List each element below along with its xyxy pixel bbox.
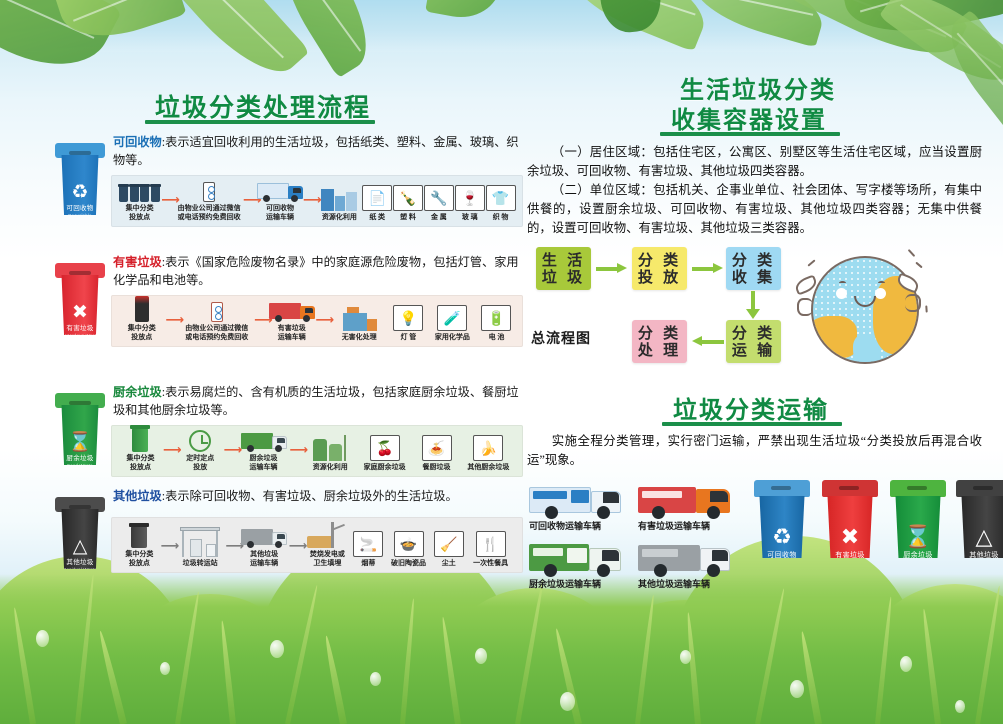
flow-step-caption: 集中分类 投放点 <box>126 204 154 222</box>
paper-icon-box: 📄 <box>362 179 392 211</box>
vehicle-recyclable: 可回收物运输车辆 <box>529 483 621 519</box>
broken-ceramic-icon-box: 🍲 <box>394 525 424 557</box>
item-icon-group: 🍾 塑 料 <box>393 179 424 222</box>
category-name: 有害垃圾 <box>113 255 162 269</box>
big-bin-recyclable: ♻ 可回收物 Recyclable <box>756 480 808 558</box>
flow-arrow-icon: ⟶ <box>316 313 330 326</box>
bin-recyclable: ♻ 可回收物 Recyclable <box>55 139 107 217</box>
flow-step-caption: 垃圾转运站 <box>183 559 218 568</box>
flowchart-arrow-2 <box>692 263 724 274</box>
category-description-text: :表示《国家危险废物名录》中的家庭源危险废物，包括灯管、家用化学品和电池等。 <box>113 255 519 287</box>
flow-panel-hazardous: 集中分类 投放点 ⟶ 由物业公司通过微信 或电话预约免费回收 ⟶ 有害垃圾 运输… <box>111 295 523 347</box>
phone-booking-icon <box>203 170 215 202</box>
transport-title: 垃圾分类运输 <box>673 390 829 425</box>
bin-label-en: Residual Waste <box>959 561 1003 566</box>
bin-label-en: Residual Waste <box>59 567 101 572</box>
flow-step-caption: 集中分类 投放点 <box>125 550 153 568</box>
residual-waste-icon: △ <box>959 526 1003 548</box>
earth-mascot-icon <box>811 256 919 364</box>
item-label: 纸 类 <box>369 213 385 222</box>
category-description-text: :表示易腐烂的、含有机质的生活垃圾，包括家庭厨余垃圾、餐厨垃圾和其他厨余垃圾等。 <box>113 385 519 417</box>
item-label: 破旧陶瓷品 <box>391 559 426 568</box>
truck-green-icon <box>241 420 287 452</box>
banana-peel-icon: 🍌 <box>473 435 503 461</box>
bin-food-waste: ⌛ 厨余垃圾 Food Waste <box>55 389 107 467</box>
category-description: 有害垃圾:表示《国家危险废物名录》中的家庭源危险废物，包括灯管、家用化学品和电池… <box>113 253 521 289</box>
bin-residual: △ 其他垃圾 Residual Waste <box>55 493 107 571</box>
item-icon-group: 🔧 金 属 <box>423 179 454 222</box>
metal-can-icon-box: 🔧 <box>424 179 454 211</box>
item-label: 尘土 <box>442 559 456 568</box>
bin-label-en: Recyclable <box>757 561 807 566</box>
metal-can-icon: 🔧 <box>424 185 454 211</box>
item-icon-group: 🧪 家用化学品 <box>428 299 477 342</box>
flow-step: 由物业公司通过微信 或电话预约免费回收 <box>175 170 243 222</box>
recycle-triangle-icon: ♻ <box>59 183 101 202</box>
flow-panel-recyclable: 集中分类 投放点 ⟶ 由物业公司通过微信 或电话预约免费回收 ⟶ 可回收物 运输… <box>111 175 523 227</box>
earth-eyebrow-right <box>878 281 885 285</box>
vegetable-icon-box: 🍒 <box>370 429 400 461</box>
node-line-1: 分 类 <box>732 325 775 342</box>
earth-arm-right <box>905 294 921 312</box>
factory-blue-icon <box>319 179 359 211</box>
flow-step-caption: 集中分类 投放点 <box>126 454 154 472</box>
tanks-green-icon <box>310 429 350 461</box>
bottle-icon: 🍾 <box>393 185 423 211</box>
hazard-x-icon: ✖ <box>825 526 875 548</box>
bin-body: ♻ 可回收物 Recyclable <box>59 155 101 215</box>
food-waste-icon: ⌛ <box>893 526 943 548</box>
cigarette-butt-icon: 🚬 <box>353 531 383 557</box>
bin-label-cn: 其他垃圾 <box>959 552 1003 560</box>
flow-arrow-icon: ⟶ <box>161 539 175 552</box>
bin-body: ✖ 有害垃圾 Hazardous Waste <box>59 275 101 335</box>
flowchart-arrow-3 <box>746 291 762 319</box>
cigarette-butt-icon-box: 🚬 <box>353 525 383 557</box>
bin-slot <box>839 486 859 490</box>
category-description-text: :表示除可回收物、有害垃圾、厨余垃圾外的生活垃圾。 <box>162 489 458 503</box>
bin-label-cn: 有害垃圾 <box>59 325 101 332</box>
vehicle-label: 可回收物运输车辆 <box>529 521 601 532</box>
vehicle-food-waste: 厨余垃圾运输车辆 <box>529 541 621 577</box>
flowchart-node-household-waste: 生 活 垃 圾 <box>536 247 591 290</box>
flowchart-arrow-1 <box>596 263 628 274</box>
chemical-bottle-icon-box: 🧪 <box>437 299 467 331</box>
flow-step-caption: 资源化利用 <box>322 213 357 222</box>
bin-slot <box>69 271 91 275</box>
flow-step: 其他垃圾 运输车辆 <box>240 516 289 568</box>
node-line-2: 收 集 <box>732 269 775 286</box>
containers-title-rule <box>660 132 840 136</box>
flowchart-node-sorted-treatment: 分 类 处 理 <box>632 320 687 363</box>
bin-slot <box>907 486 927 490</box>
flow-arrow-icon: ⟶ <box>289 443 303 456</box>
bin-label-en: Food Waste <box>893 561 943 566</box>
item-icon-group: 🔋 电 池 <box>477 299 516 342</box>
item-label: 其他厨余垃圾 <box>467 463 509 472</box>
item-label: 灯 管 <box>400 333 416 342</box>
food-waste-icon: ⌛ <box>59 433 101 452</box>
node-line-1: 分 类 <box>732 252 775 269</box>
item-label: 一次性餐具 <box>473 559 508 568</box>
truck-red-icon <box>269 290 315 322</box>
bin-label-en: Hazardous Waste <box>825 561 875 566</box>
bin-body: △ 其他垃圾 Residual Waste <box>59 509 101 569</box>
item-label: 家庭厨余垃圾 <box>364 463 406 472</box>
item-label: 餐厨垃圾 <box>423 463 451 472</box>
bin-label-cn: 有害垃圾 <box>825 552 875 560</box>
flow-step-caption: 资源化利用 <box>313 463 348 472</box>
flow-arrow-icon: ⟶ <box>254 313 268 326</box>
item-label: 家用化学品 <box>435 333 470 342</box>
recycle-triangle-icon: ♻ <box>757 526 807 548</box>
big-bin-residual: △ 其他垃圾 Residual Waste <box>958 480 1003 558</box>
category-name: 厨余垃圾 <box>113 385 162 399</box>
flow-step: 资源化利用 <box>303 429 357 472</box>
truck-grey-icon <box>241 516 287 548</box>
bin-slot <box>69 505 91 509</box>
flow-step-caption: 由物业公司通过微信 或电话预约免费回收 <box>185 324 248 342</box>
flow-step-caption: 厨余垃圾 运输车辆 <box>250 454 278 472</box>
bin-body: ⌛ 厨余垃圾 Food Waste <box>893 496 943 558</box>
bowl-food-icon: 🍝 <box>422 435 452 461</box>
bin-slot <box>771 486 791 490</box>
flow-step: 厨余垃圾 运输车辆 <box>238 420 290 472</box>
flow-step: 集中分类 投放点 <box>118 290 165 342</box>
battery-icon-box: 🔋 <box>481 299 511 331</box>
vehicle-label: 厨余垃圾运输车辆 <box>529 579 601 590</box>
category-description: 可回收物:表示适宜回收利用的生活垃圾，包括纸类、塑料、金属、玻璃、织物等。 <box>113 133 521 169</box>
flow-panel-residual: 集中分类 投放点 ⟶ 垃圾转运站 ⟶ <box>111 517 523 573</box>
tshirt-icon: 👕 <box>486 185 516 211</box>
flow-step-caption: 可回收物 运输车辆 <box>266 204 294 222</box>
bin-lid <box>956 480 1003 497</box>
node-line-1: 分 类 <box>638 252 681 269</box>
lamp-tube-icon-box: 💡 <box>393 299 423 331</box>
paper-icon: 📄 <box>362 185 392 211</box>
banana-peel-icon-box: 🍌 <box>473 429 503 461</box>
factory-orange-icon <box>339 299 379 331</box>
transport-title-rule <box>662 422 842 426</box>
flowchart-label: 总流程图 <box>531 328 591 348</box>
flow-step: 垃圾转运站 <box>175 525 226 568</box>
bin-label-en: Food Waste <box>59 463 101 468</box>
flow-step: 无害化处理 <box>330 299 389 342</box>
flow-step: 有害垃圾 运输车辆 <box>268 290 315 342</box>
node-line-2: 垃 圾 <box>542 269 585 286</box>
transport-paragraph: 实施全程分类管理，实行密门运输，严禁出现生活垃圾“分类投放后再混合收运”现象。 <box>527 432 982 470</box>
bottle-icon-box: 🍾 <box>393 179 423 211</box>
flow-step-caption: 定时定点 投放 <box>186 454 214 472</box>
bin-body: △ 其他垃圾 Residual Waste <box>959 496 1003 558</box>
left-section-title: 垃圾分类处理流程 <box>155 88 371 124</box>
tshirt-icon-box: 👕 <box>486 179 516 211</box>
flowchart-node-sorted-transport: 分 类 运 输 <box>726 320 781 363</box>
node-line-2: 投 放 <box>638 269 681 286</box>
bin-hazardous: ✖ 有害垃圾 Hazardous Waste <box>55 259 107 337</box>
earth-eye-left <box>836 288 847 299</box>
bin-body: ✖ 有害垃圾 Hazardous Waste <box>825 496 875 558</box>
item-icon-group: 📄 纸 类 <box>362 179 393 222</box>
item-icon-group: 💡 灯 管 <box>389 299 428 342</box>
vegetable-icon: 🍒 <box>370 435 400 461</box>
earth-arm-left <box>797 298 813 316</box>
flow-step-caption: 其他垃圾 运输车辆 <box>250 550 278 568</box>
earth-eye-right <box>875 288 886 299</box>
bin-lid <box>822 480 878 497</box>
bin-label-en: Hazardous Waste <box>59 333 101 338</box>
vehicle-label: 其他垃圾运输车辆 <box>638 579 710 590</box>
battery-icon: 🔋 <box>481 305 511 331</box>
flow-step-caption: 有害垃圾 运输车辆 <box>278 324 306 342</box>
item-icon-group: 🍌 其他厨余垃圾 <box>461 429 516 472</box>
flow-step-caption: 集中分类 投放点 <box>128 324 156 342</box>
item-icon-group: 🧹 尘土 <box>432 525 465 568</box>
bin-label-cn: 可回收物 <box>757 552 807 560</box>
containers-title-line2: 收集容器设置 <box>671 100 827 135</box>
dust-broom-icon-box: 🧹 <box>434 525 464 557</box>
flowchart-node-sorted-disposal: 分 类 投 放 <box>632 247 687 290</box>
flow-step-caption: 焚烧发电或 卫生填埋 <box>310 550 345 568</box>
bin-slot <box>69 151 91 155</box>
flow-arrow-icon: ⟶ <box>289 539 303 552</box>
big-bin-food-waste: ⌛ 厨余垃圾 Food Waste <box>892 480 944 558</box>
flow-arrow-icon: ⟶ <box>303 193 317 206</box>
flow-step: 资源化利用 <box>317 179 362 222</box>
containers-paragraph-2: （二）单位区域：包括机关、企事业单位、社会团体、写字楼等场所，有集中供餐的，设置… <box>527 181 982 238</box>
category-description-text: :表示适宜回收利用的生活垃圾，包括纸类、塑料、金属、玻璃、织物等。 <box>113 135 519 167</box>
hazard-x-icon: ✖ <box>59 303 101 322</box>
item-icon-group: 🍒 家庭厨余垃圾 <box>357 429 412 472</box>
earth-eyebrow-left <box>839 281 846 285</box>
flow-arrow-icon: ⟶ <box>243 193 257 206</box>
vehicle-label: 有害垃圾运输车辆 <box>638 521 710 532</box>
broken-ceramic-icon: 🍲 <box>394 531 424 557</box>
dust-broom-icon: 🧹 <box>434 531 464 557</box>
bin-label-cn: 厨余垃圾 <box>893 552 943 560</box>
sorting-bins-icon <box>119 170 160 202</box>
bin-slot <box>69 401 91 405</box>
item-icon-group: 👕 织 物 <box>485 179 516 222</box>
big-bin-hazardous: ✖ 有害垃圾 Hazardous Waste <box>824 480 876 558</box>
bin-label-en: Recyclable <box>59 213 101 218</box>
bin-label-cn: 可回收物 <box>59 205 101 212</box>
bin-slot <box>973 486 993 490</box>
clock-icon <box>189 420 211 452</box>
transport-paragraph-wrap: 实施全程分类管理，实行密门运输，严禁出现生活垃圾“分类投放后再混合收运”现象。 <box>527 432 982 470</box>
item-label: 塑 料 <box>400 213 416 222</box>
bowl-food-icon-box: 🍝 <box>422 429 452 461</box>
grey-bin-icon <box>131 516 147 548</box>
vehicle-hazardous: 有害垃圾运输车辆 <box>638 483 730 519</box>
bin-body: ♻ 可回收物 Recyclable <box>757 496 807 558</box>
flow-step: 集中分类 投放点 <box>118 170 161 222</box>
flow-arrow-icon: ⟶ <box>163 443 177 456</box>
disposable-tableware-icon-box: 🍴 <box>476 525 506 557</box>
item-label: 织 物 <box>493 213 509 222</box>
lamp-tube-icon: 💡 <box>393 305 423 331</box>
earth-ball <box>811 256 919 364</box>
phone-booking-icon <box>211 290 223 322</box>
flow-step-caption: 无害化处理 <box>342 333 377 342</box>
item-icon-group: 🚬 烟蒂 <box>352 525 385 568</box>
item-icon-group: 🍝 餐厨垃圾 <box>412 429 460 472</box>
node-line-2: 运 输 <box>732 342 775 359</box>
wine-glass-icon-box: 🍷 <box>455 179 485 211</box>
item-icon-group: 🍴 一次性餐具 <box>465 525 516 568</box>
node-line-1: 分 类 <box>638 325 681 342</box>
item-label: 玻 璃 <box>462 213 478 222</box>
category-description: 厨余垃圾:表示易腐烂的、含有机质的生活垃圾，包括家庭厨余垃圾、餐厨垃圾和其他厨余… <box>113 383 521 419</box>
bin-label-cn: 其他垃圾 <box>59 559 101 566</box>
flow-step: 集中分类 投放点 <box>118 420 163 472</box>
item-label: 电 池 <box>489 333 505 342</box>
green-bin-icon <box>132 420 148 452</box>
flow-step-caption: 由物业公司通过微信 或电话预约免费回收 <box>178 204 241 222</box>
category-name: 其他垃圾 <box>113 489 162 503</box>
earth-landmass <box>811 316 857 358</box>
truck-blue-icon <box>257 170 303 202</box>
earth-landmass <box>853 334 879 364</box>
sparkle-icon <box>908 249 916 257</box>
residual-waste-icon: △ <box>59 537 101 556</box>
flow-step: 可回收物 运输车辆 <box>257 170 303 222</box>
flow-arrow-icon: ⟶ <box>226 539 240 552</box>
containers-paragraph-1: （一）居住区域：包括住宅区，公寓区、别墅区等生活住宅区域，应当设置厨余垃圾、可回… <box>527 143 982 181</box>
flow-step: 由物业公司通过微信 或电话预约免费回收 <box>179 290 254 342</box>
containers-paragraphs: （一）居住区域：包括住宅区，公寓区、别墅区等生活住宅区域，应当设置厨余垃圾、可回… <box>527 143 982 238</box>
chemical-bottle-icon: 🧪 <box>437 305 467 331</box>
flow-arrow-icon: ⟶ <box>165 313 179 326</box>
flow-panel-food-waste: 集中分类 投放点 ⟶ 定时定点 投放 ⟶ 厨余垃圾 运输车辆 ⟶ <box>111 425 523 477</box>
bin-body: ⌛ 厨余垃圾 Food Waste <box>59 405 101 465</box>
flow-step: 定时定点 投放 <box>177 420 224 472</box>
sparkle-icon <box>925 305 927 312</box>
disposable-tableware-icon: 🍴 <box>476 531 506 557</box>
item-icon-group: 🍷 玻 璃 <box>454 179 485 222</box>
flowchart-node-sorted-collection: 分 类 收 集 <box>726 247 781 290</box>
flow-step: 集中分类 投放点 <box>118 516 161 568</box>
left-section-rule <box>145 120 375 124</box>
incinerator-icon <box>307 516 347 548</box>
item-label: 金 属 <box>431 213 447 222</box>
item-icon-group: 🍲 破旧陶瓷品 <box>385 525 433 568</box>
node-line-1: 生 活 <box>542 252 585 269</box>
category-description: 其他垃圾:表示除可回收物、有害垃圾、厨余垃圾外的生活垃圾。 <box>113 487 521 505</box>
bin-lid <box>890 480 946 497</box>
bin-label-cn: 厨余垃圾 <box>59 455 101 462</box>
flow-arrow-icon: ⟶ <box>161 193 175 206</box>
flow-step: 焚烧发电或 卫生填埋 <box>303 516 352 568</box>
wine-glass-icon: 🍷 <box>455 185 485 211</box>
flow-arrow-icon: ⟶ <box>224 443 238 456</box>
transfer-station-icon <box>178 525 222 557</box>
flowchart-arrow-4 <box>692 336 724 347</box>
node-line-2: 处 理 <box>638 342 681 359</box>
vehicle-residual: 其他垃圾运输车辆 <box>638 541 730 577</box>
item-label: 烟蒂 <box>361 559 375 568</box>
red-collection-bin-icon <box>135 290 149 322</box>
bin-lid <box>754 480 810 497</box>
category-name: 可回收物 <box>113 135 162 149</box>
